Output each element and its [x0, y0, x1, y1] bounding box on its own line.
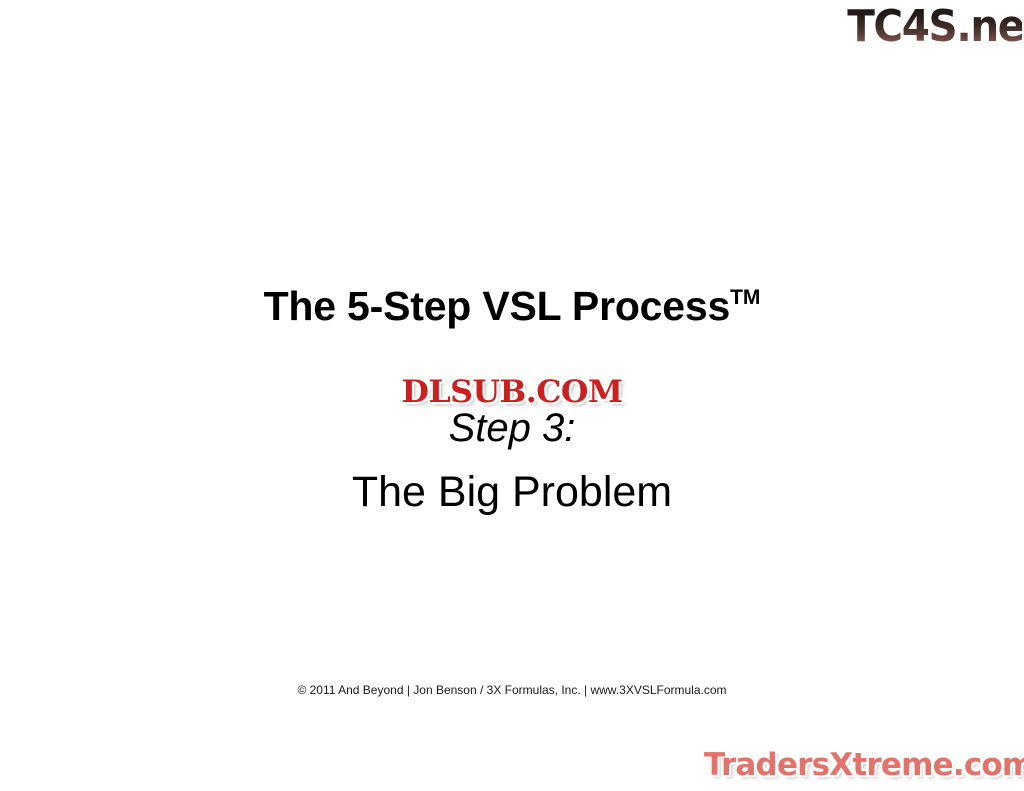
page-title: The 5-Step VSL ProcessTM [0, 274, 1024, 330]
subtitle-step-label: Step 3: [0, 404, 1024, 452]
tc4s-net-logo: TC4S.net [847, 2, 1022, 52]
page-title-text: The 5-Step VSL Process [264, 283, 731, 329]
subtitle-block: Step 3: The Big Problem [0, 404, 1024, 519]
subtitle-topic-label: The Big Problem [0, 465, 1024, 519]
presentation-slide: TC4S.net The 5-Step VSL ProcessTM DLSUB.… [0, 0, 1024, 791]
trademark-symbol: TM [730, 286, 760, 309]
tradersxtreme-com-watermark: TradersXtreme.com [704, 744, 1022, 786]
copyright-footer: © 2011 And Beyond | Jon Benson / 3X Form… [0, 683, 1024, 698]
